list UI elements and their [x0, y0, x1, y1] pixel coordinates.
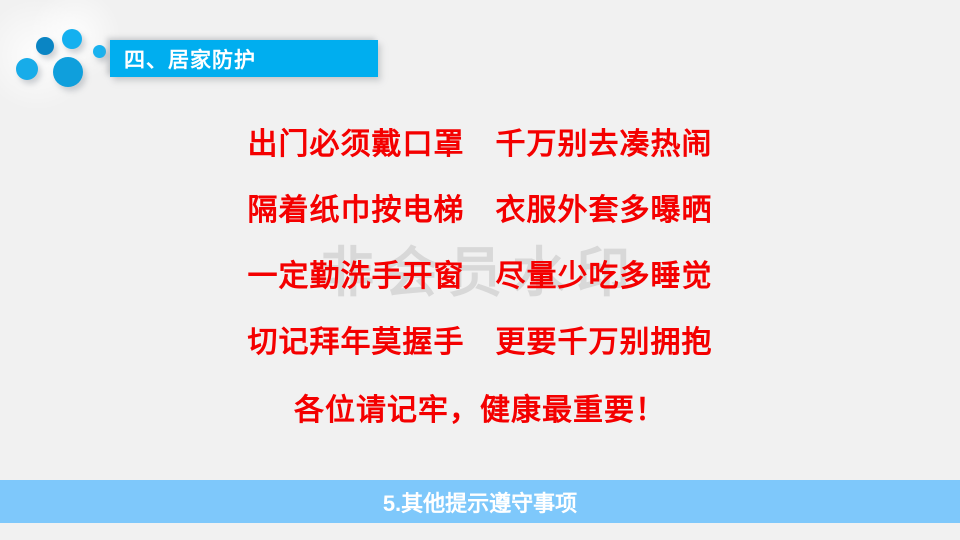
body-text-block: 出门必须戴口罩 千万别去凑热闹 隔着纸巾按电梯 衣服外套多曝晒 一定勤洗手开窗 … [0, 112, 960, 446]
body-line: 各位请记牢，健康最重要！ [0, 376, 960, 446]
body-line: 出门必须戴口罩 千万别去凑热闹 [0, 112, 960, 178]
section-header-chip: 四、居家防护 [110, 40, 378, 77]
body-line: 隔着纸巾按电梯 衣服外套多曝晒 [0, 178, 960, 244]
body-line: 切记拜年莫握手 更要千万别拥抱 [0, 310, 960, 376]
dot-largest-icon [53, 57, 83, 87]
section-header-title: 四、居家防护 [124, 44, 256, 74]
dot-medium-bright-icon [62, 29, 82, 49]
footer-title: 5.其他提示遵守事项 [383, 486, 577, 518]
dot-small-icon [93, 45, 106, 58]
decorative-dot-cluster [0, 0, 120, 105]
body-line: 一定勤洗手开窗 尽量少吃多睡觉 [0, 244, 960, 310]
dot-medium-dark-icon [36, 37, 54, 55]
dot-large-left-icon [16, 58, 38, 80]
footer-banner: 5.其他提示遵守事项 [0, 480, 960, 523]
slide-canvas: 四、居家防护 非会员水印 出门必须戴口罩 千万别去凑热闹 隔着纸巾按电梯 衣服外… [0, 0, 960, 540]
